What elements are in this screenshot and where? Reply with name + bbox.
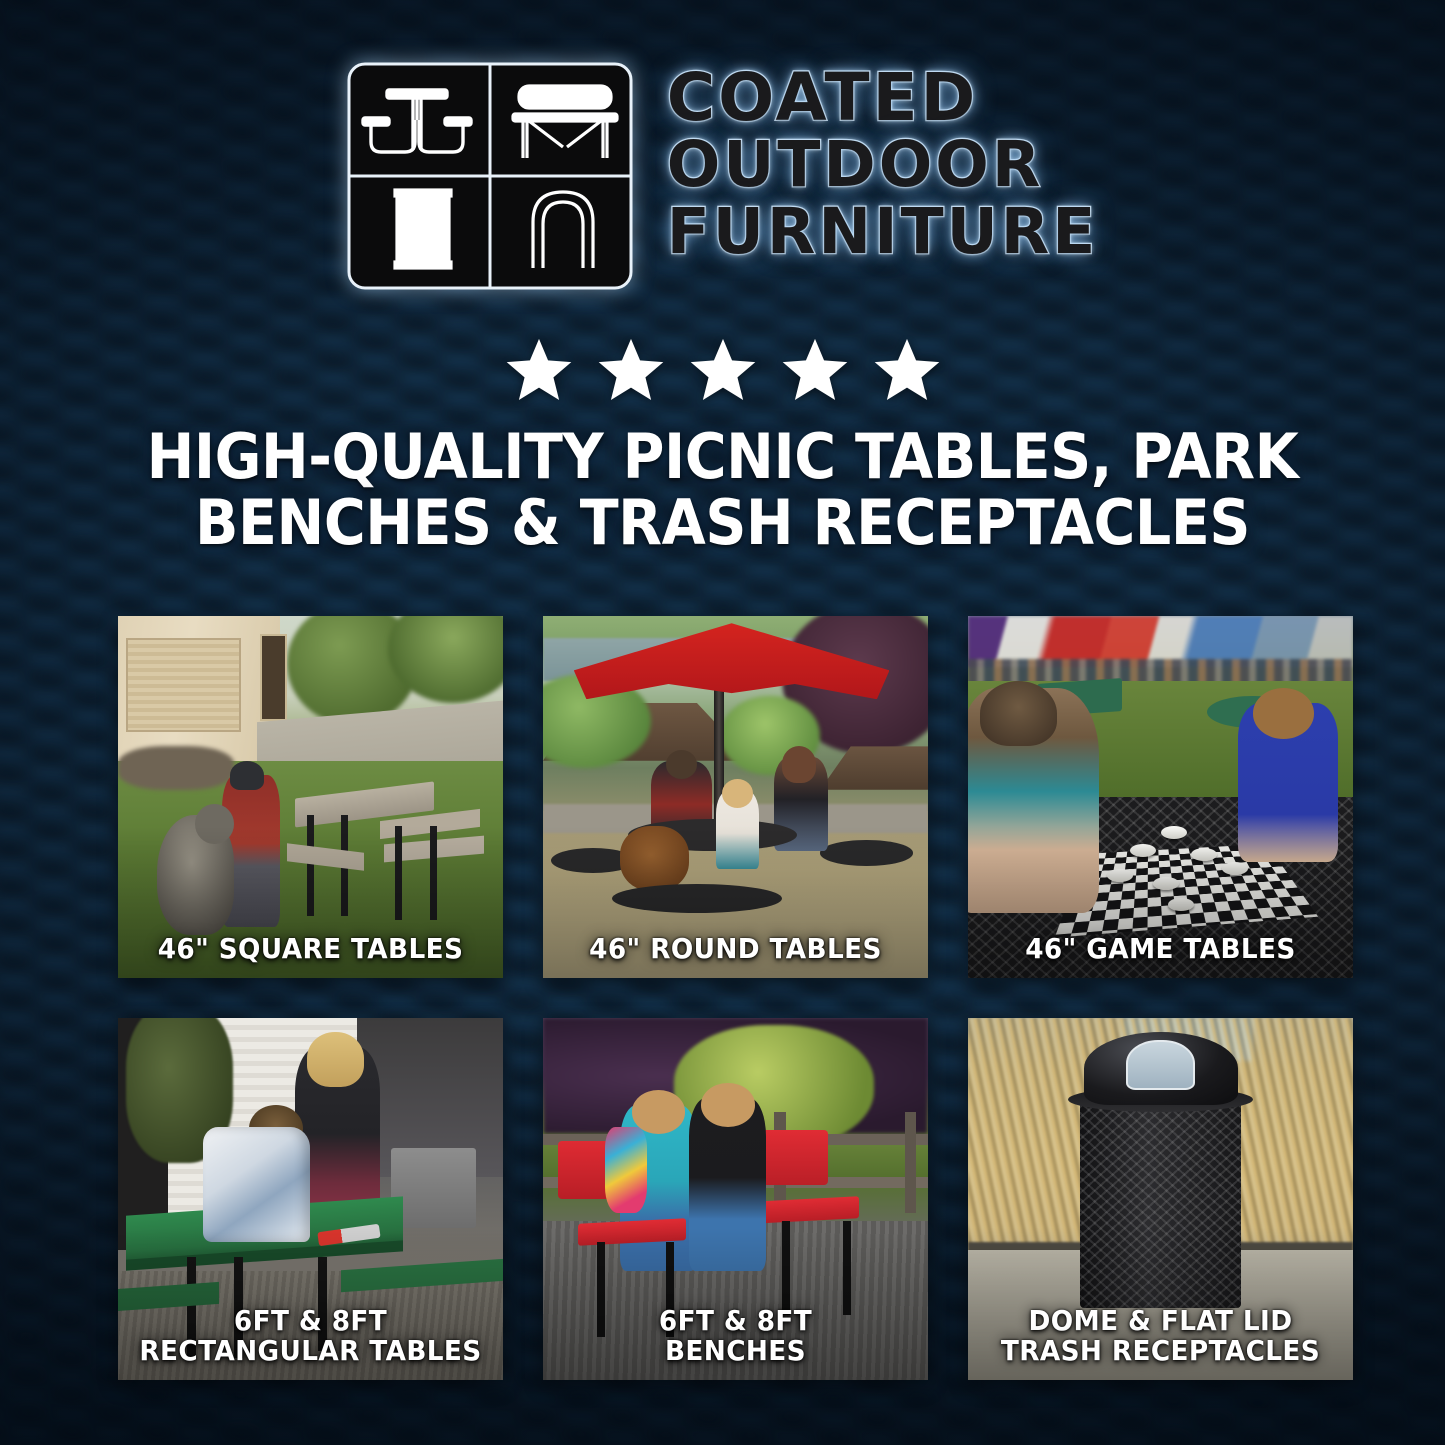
product-tile-caption: 6FT & 8FT BENCHES [555, 1306, 917, 1366]
brand-name-line-3: FURNITURE [667, 200, 1099, 264]
caption-line-2: TRASH RECEPTACLES [985, 1336, 1336, 1366]
product-tile-caption: DOME & FLAT LID TRASH RECEPTACLES [980, 1306, 1342, 1366]
star-icon [596, 336, 666, 404]
product-tile-caption: 46" GAME TABLES [980, 934, 1342, 964]
caption-line-2: BENCHES [560, 1336, 911, 1366]
product-tile-caption: 46" SQUARE TABLES [130, 934, 492, 964]
page-title: HIGH-QUALITY PICNIC TABLES, PARK BENCHES… [58, 424, 1387, 555]
caption-line-1: 46" ROUND TABLES [560, 934, 911, 964]
brand-wordmark: COATED OUTDOOR FURNITURE [667, 62, 1099, 264]
caption-line-1: 46" SQUARE TABLES [135, 934, 486, 964]
brand-name-line-2: OUTDOOR [667, 133, 1044, 197]
caption-line-2: RECTANGULAR TABLES [135, 1336, 486, 1366]
headline-line-1: HIGH-QUALITY PICNIC TABLES, PARK [58, 424, 1387, 490]
headline-line-2: BENCHES & TRASH RECEPTACLES [58, 490, 1387, 556]
four-quadrant-outdoor-furniture-icon [347, 62, 633, 290]
product-grid: 46" SQUARE TABLES [118, 616, 1328, 1380]
poster: COATED OUTDOOR FURNITURE HIGH-QUALITY PI… [0, 0, 1445, 1445]
caption-line-1: DOME & FLAT LID [985, 1306, 1336, 1336]
product-tile-game-tables[interactable]: 46" GAME TABLES [968, 616, 1353, 978]
star-icon [780, 336, 850, 404]
product-tile-trash-receptacles[interactable]: DOME & FLAT LID TRASH RECEPTACLES [968, 1018, 1353, 1380]
product-tile-rectangular-tables[interactable]: 6FT & 8FT RECTANGULAR TABLES [118, 1018, 503, 1380]
product-tile-caption: 6FT & 8FT RECTANGULAR TABLES [130, 1306, 492, 1366]
star-icon [688, 336, 758, 404]
product-tile-square-tables[interactable]: 46" SQUARE TABLES [118, 616, 503, 978]
star-icon [872, 336, 942, 404]
poster-content: COATED OUTDOOR FURNITURE HIGH-QUALITY PI… [0, 0, 1445, 1445]
product-tile-caption: 46" ROUND TABLES [555, 934, 917, 964]
caption-line-1: 6FT & 8FT [560, 1306, 911, 1336]
caption-line-1: 6FT & 8FT [135, 1306, 486, 1336]
product-tile-round-tables[interactable]: 46" ROUND TABLES [543, 616, 928, 978]
caption-line-1: 46" GAME TABLES [985, 934, 1336, 964]
rating-stars [0, 336, 1445, 404]
star-icon [504, 336, 574, 404]
product-tile-benches[interactable]: 6FT & 8FT BENCHES [543, 1018, 928, 1380]
brand-header: COATED OUTDOOR FURNITURE [0, 62, 1445, 290]
brand-name-line-1: COATED [667, 64, 979, 131]
